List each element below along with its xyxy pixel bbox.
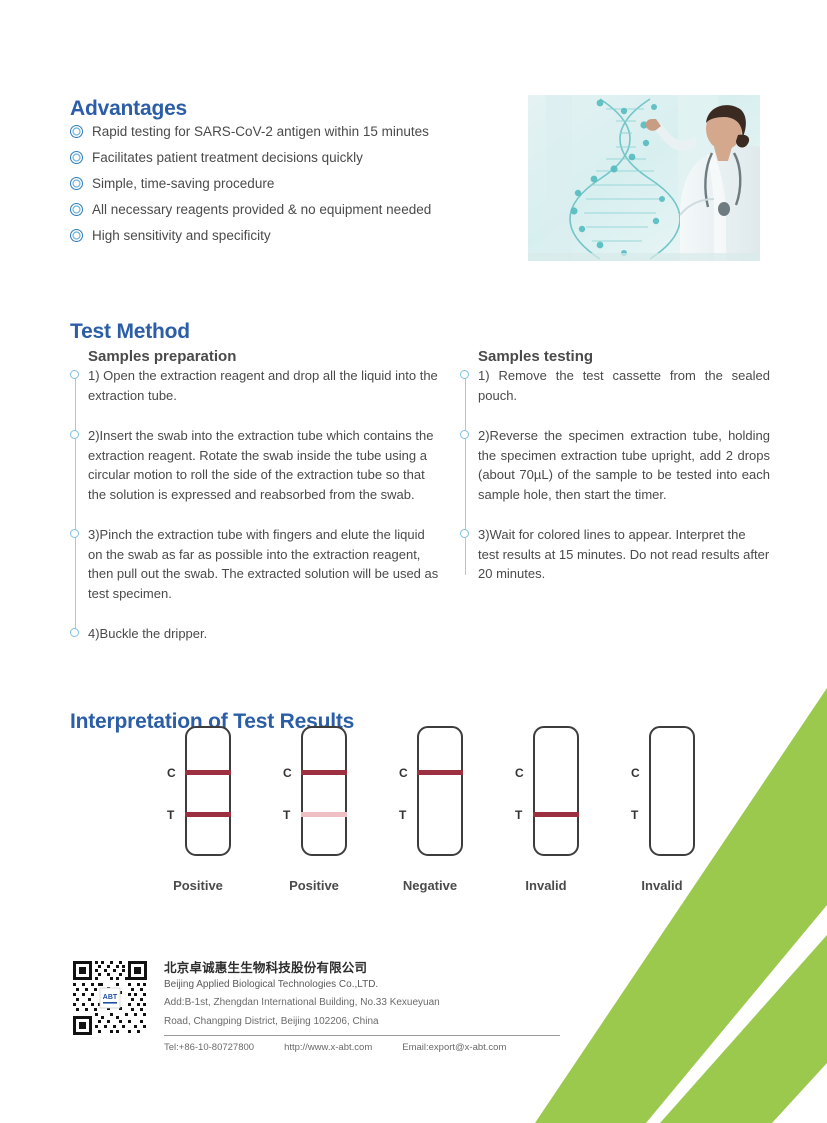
test-cassette-icon: C T xyxy=(511,726,581,856)
cassette-result-1: C T Positive xyxy=(140,726,256,893)
advantage-text: Simple, time-saving procedure xyxy=(92,176,274,191)
step-text: 2)Insert the swab into the extraction tu… xyxy=(88,428,433,502)
timeline-line xyxy=(75,374,76,635)
company-name-en: Beijing Applied Biological Technologies … xyxy=(164,977,560,992)
step-text: 1) Remove the test cassette from the sea… xyxy=(478,368,770,403)
test-band-faint xyxy=(301,812,347,817)
scientist-dna-photo xyxy=(528,95,760,261)
ring-bullet-icon xyxy=(70,177,83,190)
control-band xyxy=(417,770,463,775)
samples-testing-column: Samples testing 1) Remove the test casse… xyxy=(460,348,770,584)
timeline-dot-icon xyxy=(70,370,79,379)
cassette-body xyxy=(649,726,695,856)
cassette-caption: Invalid xyxy=(525,878,566,893)
footer-divider xyxy=(164,1035,560,1036)
cassette-results-row: C T Positive C T Positive C T xyxy=(140,726,720,893)
timeline-dot-icon xyxy=(460,430,469,439)
control-line-label: C xyxy=(631,767,640,779)
cassette-body xyxy=(185,726,231,856)
test-line-label: T xyxy=(399,809,406,821)
list-item: Facilitates patient treatment decisions … xyxy=(70,144,510,170)
flyer-page: Advantages Rapid testing for SARS-CoV-2 … xyxy=(0,0,827,1123)
qr-code-icon[interactable]: ABT xyxy=(70,958,150,1038)
cassette-body xyxy=(417,726,463,856)
footer: ABT 北京卓诚惠生生物科技股份有限公司 Beijing Applied Bio… xyxy=(70,958,560,1055)
cassette-result-5: C T Invalid xyxy=(604,726,720,893)
list-item: High sensitivity and specificity xyxy=(70,222,510,248)
step-text: 4)Buckle the dripper. xyxy=(88,626,207,641)
ring-bullet-icon xyxy=(70,125,83,138)
test-line-label: T xyxy=(283,809,290,821)
step-item: 4)Buckle the dripper. xyxy=(88,624,440,644)
footer-contact-row: Tel:+86-10-80727800 http://www.x-abt.com… xyxy=(164,1041,560,1055)
step-text: 2)Reverse the specimen extraction tube, … xyxy=(478,428,770,502)
samples-preparation-column: Samples preparation 1) Open the extracti… xyxy=(70,348,440,644)
qr-logo-text: ABT xyxy=(103,994,118,1001)
test-cassette-icon: C T xyxy=(627,726,697,856)
control-line-label: C xyxy=(515,767,524,779)
step-text: 3)Pinch the extraction tube with fingers… xyxy=(88,527,438,601)
test-cassette-icon: C T xyxy=(395,726,465,856)
ring-bullet-icon xyxy=(70,151,83,164)
company-email[interactable]: Email:export@x-abt.com xyxy=(402,1041,506,1055)
timeline-dot-icon xyxy=(460,370,469,379)
cassette-body xyxy=(301,726,347,856)
advantage-text: Facilitates patient treatment decisions … xyxy=(92,150,363,165)
advantages-list: Rapid testing for SARS-CoV-2 antigen wit… xyxy=(70,118,510,248)
test-band xyxy=(185,812,231,817)
test-line-label: T xyxy=(631,809,638,821)
timeline-dot-icon xyxy=(70,430,79,439)
cassette-result-4: C T Invalid xyxy=(488,726,604,893)
step-item: 1) Open the extraction reagent and drop … xyxy=(88,366,440,405)
company-website[interactable]: http://www.x-abt.com xyxy=(284,1041,372,1055)
cassette-result-3: C T Negative xyxy=(372,726,488,893)
advantage-text: Rapid testing for SARS-CoV-2 antigen wit… xyxy=(92,124,429,139)
test-line-label: T xyxy=(167,809,174,821)
test-line-label: T xyxy=(515,809,522,821)
ring-bullet-icon xyxy=(70,203,83,216)
company-telephone: Tel:+86-10-80727800 xyxy=(164,1041,254,1055)
cassette-caption: Negative xyxy=(403,878,457,893)
samples-preparation-subtitle: Samples preparation xyxy=(88,348,440,365)
samples-testing-steps: 1) Remove the test cassette from the sea… xyxy=(460,366,770,584)
step-item: 3)Pinch the extraction tube with fingers… xyxy=(88,525,440,603)
advantage-text: All necessary reagents provided & no equ… xyxy=(92,202,431,217)
list-item: Simple, time-saving procedure xyxy=(70,170,510,196)
control-line-label: C xyxy=(283,767,292,779)
step-item: 1) Remove the test cassette from the sea… xyxy=(478,366,770,405)
list-item: All necessary reagents provided & no equ… xyxy=(70,196,510,222)
footer-company-info: 北京卓诚惠生生物科技股份有限公司 Beijing Applied Biologi… xyxy=(164,958,560,1055)
test-cassette-icon: C T xyxy=(163,726,233,856)
timeline-dot-icon xyxy=(460,529,469,538)
company-address-line-1: Add:B-1st, Zhengdan International Buildi… xyxy=(164,996,560,1011)
ring-bullet-icon xyxy=(70,229,83,242)
step-item: 2)Reverse the specimen extraction tube, … xyxy=(478,426,770,504)
company-name-cn: 北京卓诚惠生生物科技股份有限公司 xyxy=(164,960,560,976)
step-text: 3)Wait for colored lines to appear. Inte… xyxy=(478,527,769,581)
cassette-result-2: C T Positive xyxy=(256,726,372,893)
control-line-label: C xyxy=(167,767,176,779)
list-item: Rapid testing for SARS-CoV-2 antigen wit… xyxy=(70,118,510,144)
control-line-label: C xyxy=(399,767,408,779)
step-text: 1) Open the extraction reagent and drop … xyxy=(88,368,438,403)
cassette-caption: Positive xyxy=(173,878,223,893)
samples-preparation-steps: 1) Open the extraction reagent and drop … xyxy=(70,366,440,644)
samples-testing-subtitle: Samples testing xyxy=(478,348,770,365)
test-cassette-icon: C T xyxy=(279,726,349,856)
step-item: 3)Wait for colored lines to appear. Inte… xyxy=(478,525,770,584)
company-address-line-2: Road, Changping District, Beijing 102206… xyxy=(164,1015,560,1030)
cassette-caption: Positive xyxy=(289,878,339,893)
timeline-line xyxy=(465,374,466,575)
advantage-text: High sensitivity and specificity xyxy=(92,228,271,243)
step-item: 2)Insert the swab into the extraction tu… xyxy=(88,426,440,504)
timeline-dot-icon xyxy=(70,529,79,538)
control-band xyxy=(301,770,347,775)
control-band xyxy=(185,770,231,775)
cassette-caption: Invalid xyxy=(641,878,682,893)
timeline-dot-icon xyxy=(70,628,79,637)
test-band xyxy=(533,812,579,817)
cassette-body xyxy=(533,726,579,856)
test-method-heading: Test Method xyxy=(70,320,190,344)
